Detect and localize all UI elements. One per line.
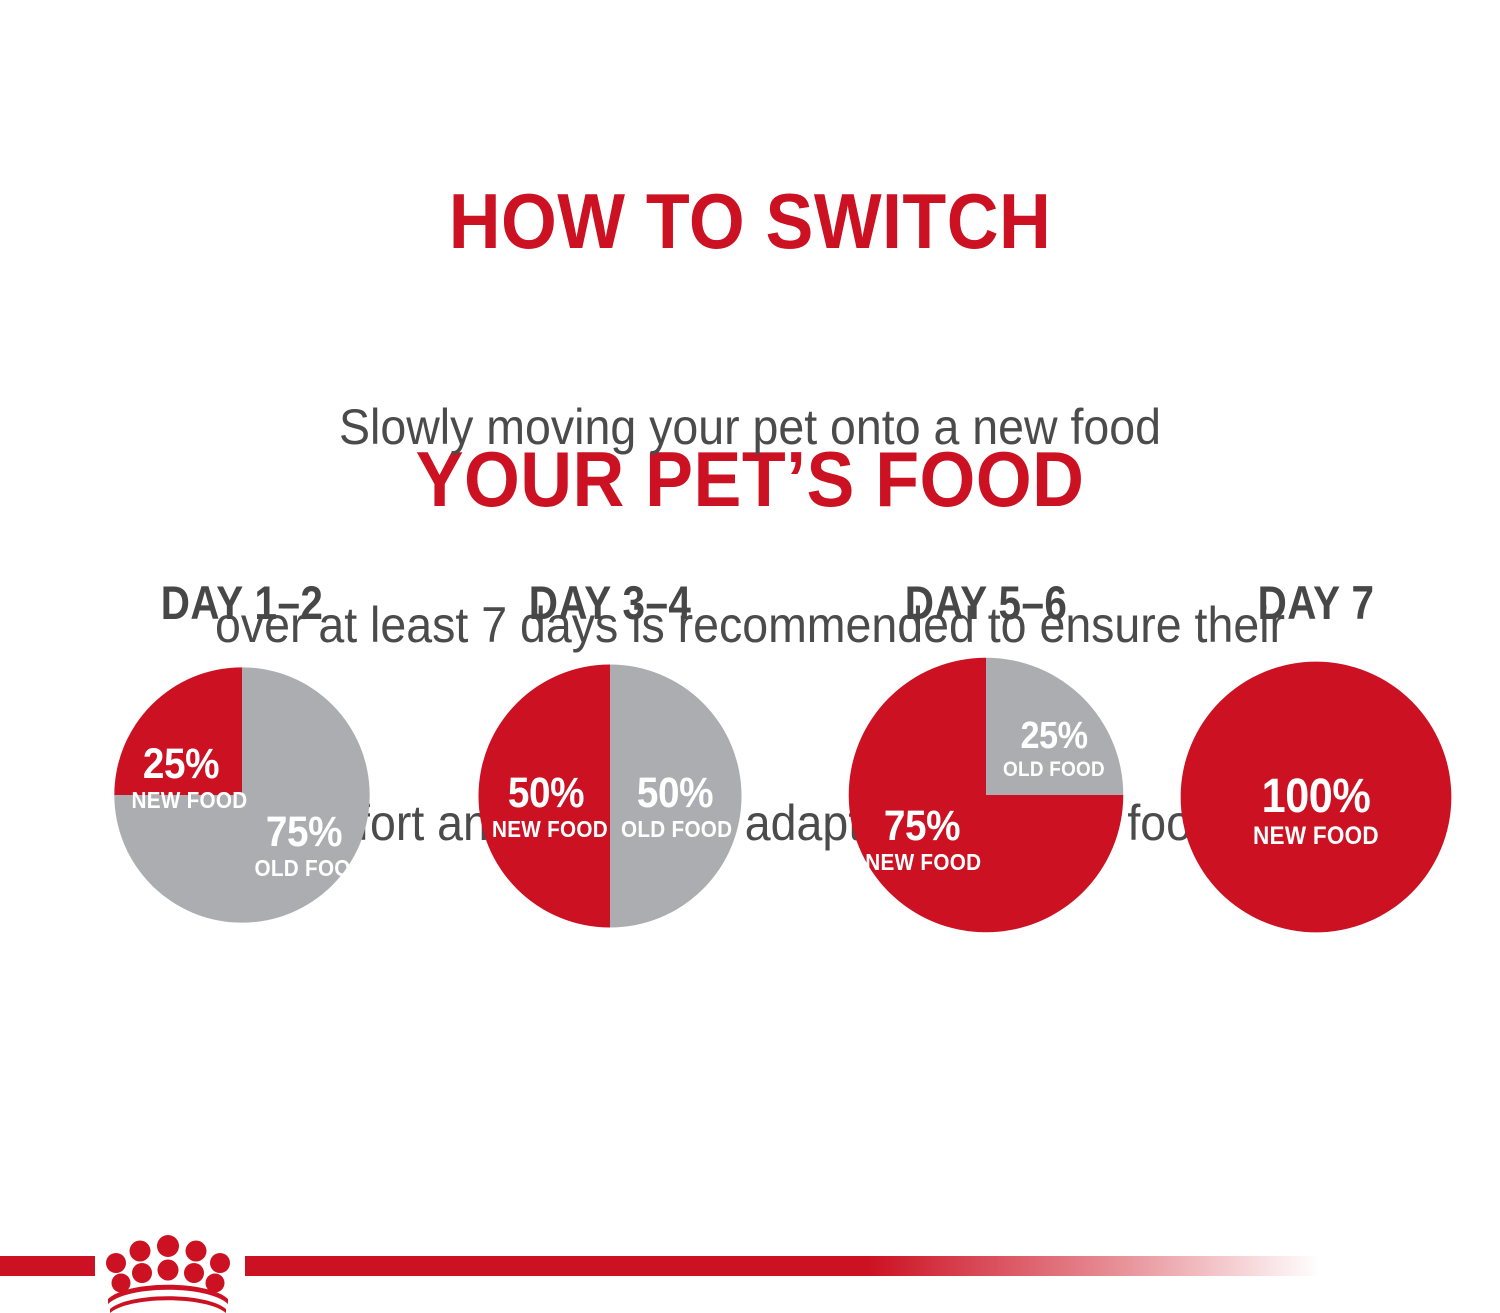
day-label-3: DAY 5–6 xyxy=(862,578,1110,628)
pie-slice-old-food-3 xyxy=(986,658,1123,795)
footer-rule-right xyxy=(245,1256,1320,1276)
pie-chart-day-3-4: 50% NEW FOOD 50% OLD FOOD xyxy=(473,659,747,933)
pie-slice-old-food-2 xyxy=(610,664,742,927)
pie-block-day-7: DAY 7 100% NEW FOOD xyxy=(1174,578,1458,938)
pie-block-day-3-4: DAY 3–4 50% NEW FOOD 50% OLD FOOD xyxy=(472,578,748,933)
pie-svg-day-3-4 xyxy=(473,659,747,933)
footer xyxy=(0,1230,1500,1313)
day-label-4: DAY 7 xyxy=(1194,578,1438,628)
intro-line-1: Slowly moving your pet onto a new food xyxy=(99,394,1401,460)
pie-chart-day-5-6: 25% OLD FOOD 75% NEW FOOD xyxy=(843,652,1129,938)
royal-canin-crown-icon xyxy=(88,1230,248,1313)
page-title-line-1: HOW TO SWITCH xyxy=(60,178,1440,264)
day-label-2: DAY 3–4 xyxy=(491,578,728,628)
pie-chart-row: DAY 1–2 25% NEW FOOD 75% OLD FOOD DAY 3–… xyxy=(0,578,1500,988)
pie-slice-new-food-2 xyxy=(478,664,610,927)
pie-slice-new-food-4 xyxy=(1181,662,1452,933)
day-label-1: DAY 1–2 xyxy=(127,578,357,628)
pie-block-day-1-2: DAY 1–2 25% NEW FOOD 75% OLD FOOD xyxy=(108,578,376,928)
footer-rule-left xyxy=(0,1256,95,1276)
pie-svg-day-1-2 xyxy=(109,662,375,928)
pie-svg-day-7 xyxy=(1175,656,1457,938)
pie-chart-day-7: 100% NEW FOOD xyxy=(1175,656,1457,938)
pie-svg-day-5-6 xyxy=(843,652,1129,938)
pie-slice-new-food-1 xyxy=(114,667,242,795)
pie-block-day-5-6: DAY 5–6 25% OLD FOOD 75% NEW FOOD xyxy=(842,578,1130,938)
pie-chart-day-1-2: 25% NEW FOOD 75% OLD FOOD xyxy=(109,662,375,928)
